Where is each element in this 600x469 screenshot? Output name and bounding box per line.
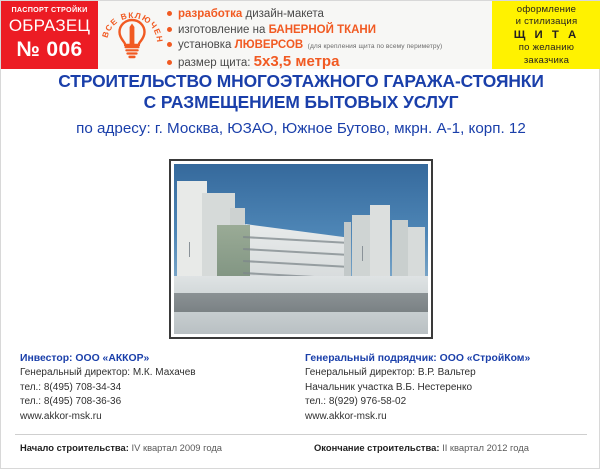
construction-start-label: Начало строительства: bbox=[20, 442, 129, 453]
construction-site-photo bbox=[169, 159, 433, 339]
contractor-website[interactable]: www.akkor-msk.ru bbox=[305, 410, 595, 425]
feature-item-2: изготовление на БАНЕРНОЙ ТКАНИ bbox=[167, 22, 489, 38]
feature-3-accent: ЛЮВЕРСОВ bbox=[235, 39, 304, 51]
investor-director: Генеральный директор: М.К. Махачев bbox=[20, 366, 300, 381]
contractor-heading: Генеральный подрядчик: ООО «СтройКом» bbox=[305, 351, 595, 366]
yellow-line-4: по желанию bbox=[492, 42, 600, 54]
construction-end-label: Окончание строительства: bbox=[314, 442, 439, 453]
yellow-line-5: заказчика bbox=[492, 55, 600, 67]
photo-image bbox=[174, 164, 428, 334]
top-banner-strip: ПАСПОРТ СТРОЙКИ ОБРАЗЕЦ № 006 bbox=[1, 1, 600, 69]
photo-building-right-e bbox=[370, 205, 390, 280]
badge-number: № 006 bbox=[1, 37, 98, 62]
yellow-line-3: Щ И Т А bbox=[492, 29, 600, 42]
badge-kicker-label: ПАСПОРТ СТРОЙКИ bbox=[1, 5, 98, 15]
poster-title-block: СТРОИТЕЛЬСТВО МНОГОЭТАЖНОГО ГАРАЖА-СТОЯН… bbox=[1, 71, 600, 142]
feature-item-4: размер щита: 5х3,5 метра bbox=[167, 55, 489, 71]
construction-end: Окончание строительства: II квартал 2012… bbox=[314, 441, 529, 455]
feature-2-rest: изготовление на bbox=[178, 24, 269, 36]
lightbulb-icon: ВСЕ ВКЛЮЧЕНО bbox=[100, 3, 164, 67]
construction-end-value: II квартал 2012 года bbox=[439, 442, 528, 453]
investor-phone-2: тел.: 8(495) 708-36-36 bbox=[20, 395, 300, 410]
feature-2-accent: БАНЕРНОЙ ТКАНИ bbox=[269, 24, 376, 36]
construction-start-value: IV квартал 2009 года bbox=[129, 442, 222, 453]
yellow-line-1: оформление bbox=[492, 4, 600, 16]
title-line-2: С РАЗМЕЩЕНИЕМ БЫТОВЫХ УСЛУГ bbox=[1, 92, 600, 113]
construction-dates-footer: Начало строительства: IV квартал 2009 го… bbox=[1, 441, 600, 463]
investor-block: Инвестор: ООО «АККОР» Генеральный директ… bbox=[20, 351, 300, 424]
photo-street-lamp bbox=[189, 242, 190, 257]
customization-panel: оформление и стилизация Щ И Т А по желан… bbox=[492, 1, 600, 69]
contractor-block: Генеральный подрядчик: ООО «СтройКом» Ге… bbox=[305, 351, 595, 424]
contractor-site-manager: Начальник участка В.Б. Нестеренко bbox=[305, 381, 595, 396]
badge-sample-word: ОБРАЗЕЦ bbox=[1, 15, 98, 37]
construction-passport-poster: ПАСПОРТ СТРОЙКИ ОБРАЗЕЦ № 006 bbox=[0, 0, 600, 469]
photo-building-right-d bbox=[352, 215, 370, 280]
photo-building-right-f bbox=[392, 220, 407, 280]
title-line-1: СТРОИТЕЛЬСТВО МНОГОЭТАЖНОГО ГАРАЖА-СТОЯН… bbox=[1, 71, 600, 92]
investor-phone-1: тел.: 8(495) 708-34-34 bbox=[20, 381, 300, 396]
investor-heading: Инвестор: ООО «АККОР» bbox=[20, 351, 300, 366]
feature-item-1: разработка дизайн-макета bbox=[167, 6, 489, 22]
footer-divider bbox=[15, 434, 587, 435]
feature-3-rest: установка bbox=[178, 39, 235, 51]
sample-badge: ПАСПОРТ СТРОЙКИ ОБРАЗЕЦ № 006 bbox=[1, 1, 98, 69]
investor-website[interactable]: www.akkor-msk.ru bbox=[20, 410, 300, 425]
contractor-phone: тел.: 8(929) 976-58-02 bbox=[305, 395, 595, 410]
feature-3-note: (для крепления щита по всему периметру) bbox=[308, 43, 443, 50]
photo-road bbox=[174, 293, 428, 312]
feature-4-accent: 5х3,5 метра bbox=[254, 53, 340, 70]
feature-4-rest: размер щита: bbox=[178, 57, 254, 69]
feature-1-rest: дизайн-макета bbox=[242, 8, 324, 20]
features-list: разработка дизайн-макета изготовление на… bbox=[167, 6, 489, 66]
photo-street-lamp bbox=[362, 246, 363, 261]
feature-1-accent: разработка bbox=[178, 8, 242, 20]
construction-start: Начало строительства: IV квартал 2009 го… bbox=[20, 441, 222, 455]
title-address: по адресу: г. Москва, ЮЗАО, Южное Бутово… bbox=[1, 113, 600, 142]
yellow-line-2: и стилизация bbox=[492, 16, 600, 28]
photo-building-right-g bbox=[408, 227, 426, 280]
contractor-director: Генеральный директор: В.Р. Вальтер bbox=[305, 366, 595, 381]
